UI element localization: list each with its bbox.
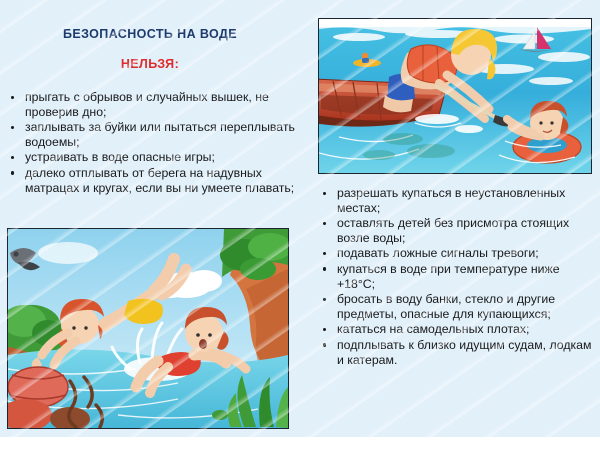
list-item: оставлять детей без присмотра стоящих во… <box>315 216 597 245</box>
list-item: купаться в воде при температуре ниже +18… <box>315 262 597 291</box>
list-item: разрешать купаться в неустановленных мес… <box>315 186 597 215</box>
page-title: БЕЗОПАСНОСТЬ НА ВОДЕ <box>0 27 300 41</box>
bottom-white-strip <box>0 437 600 450</box>
list-item: кататься на самодельных плотах; <box>315 322 597 337</box>
list-item: подавать ложные сигналы тревоги; <box>315 246 597 261</box>
river-diving-scene <box>8 229 288 428</box>
left-prohibitions-list: прыгать с обрывов и случайных вышек, не … <box>3 90 303 196</box>
prohibition-heading: НЕЛЬЗЯ: <box>0 57 300 71</box>
boat-rescue-scene <box>319 19 591 173</box>
illustration-boat-rescue <box>318 18 592 174</box>
list-item: прыгать с обрывов и случайных вышек, не … <box>3 90 303 119</box>
list-item: подплывать к близко идущим судам, лодкам… <box>315 338 597 367</box>
illustration-river-diving <box>7 228 289 429</box>
list-item: устраивать в воде опасные игры; <box>3 150 303 165</box>
poster-page: БЕЗОПАСНОСТЬ НА ВОДЕ НЕЛЬЗЯ: прыгать с о… <box>0 0 600 450</box>
list-item: заплывать за буйки или пытаться переплыв… <box>3 120 303 149</box>
list-item: бросать в воду банки, стекло и другие пр… <box>315 292 597 321</box>
right-prohibitions-list: разрешать купаться в неустановленных мес… <box>315 186 597 368</box>
list-item: далеко отплывать от берега на надувных м… <box>3 166 303 195</box>
